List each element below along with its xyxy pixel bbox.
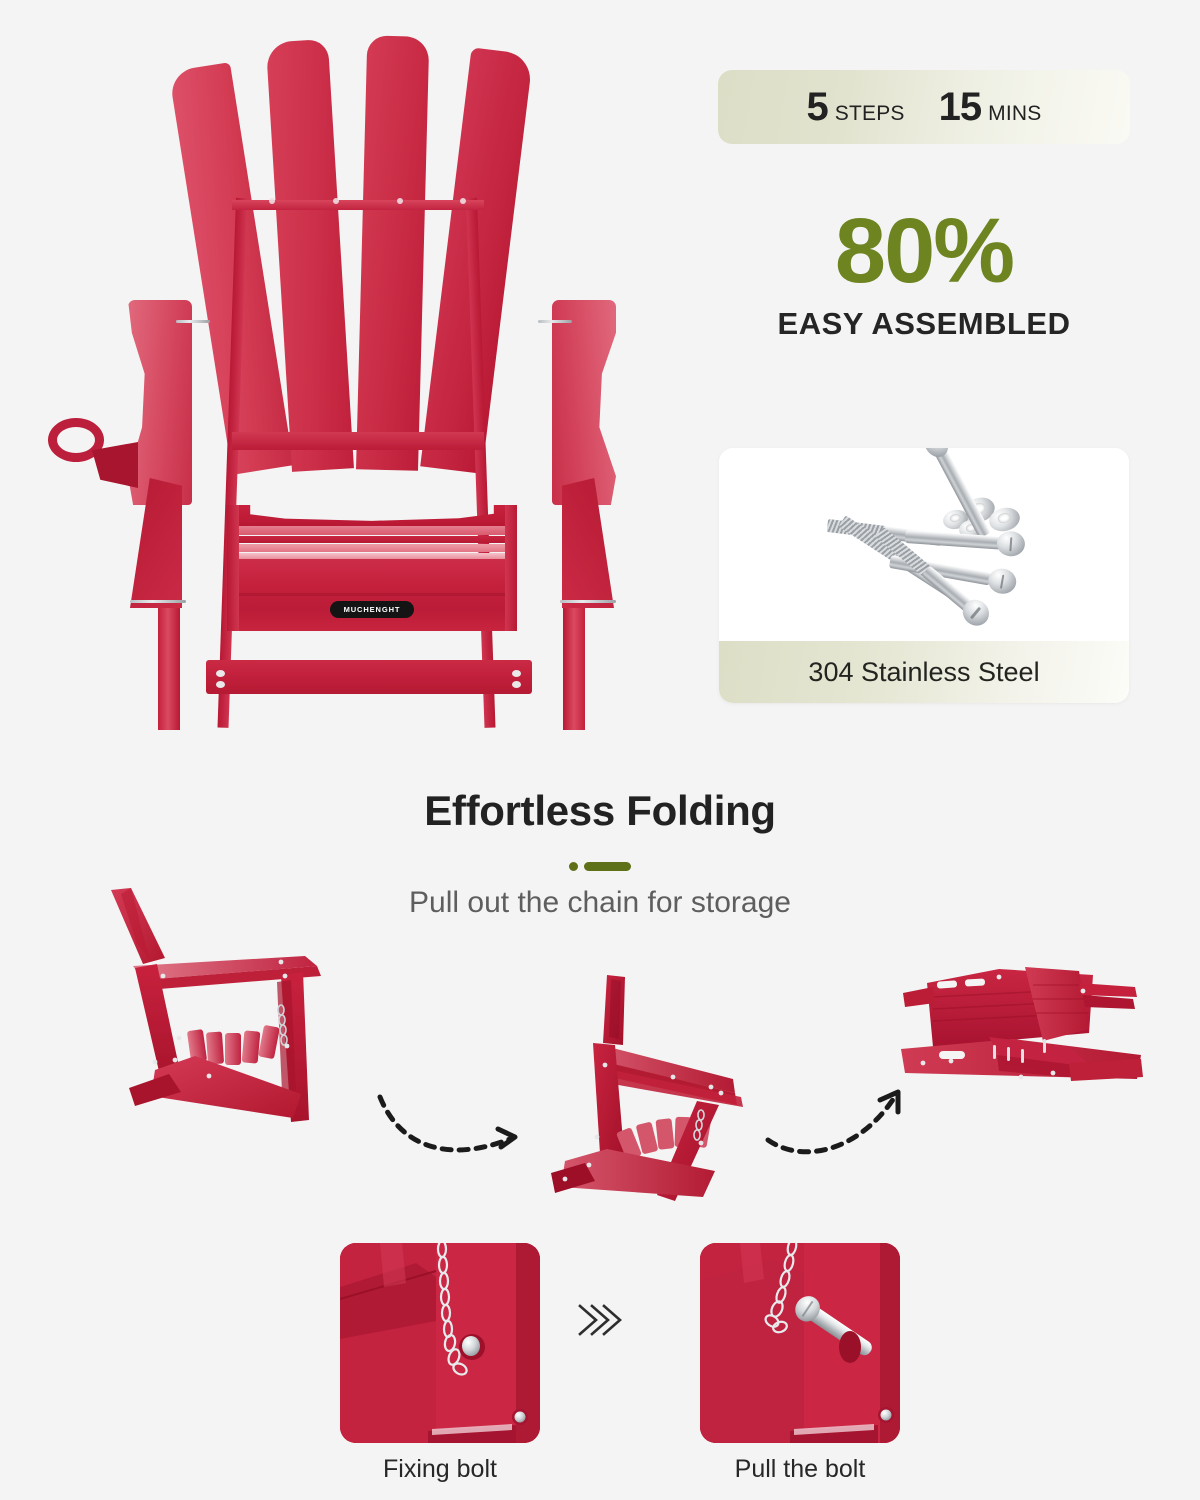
seat-side-post bbox=[227, 505, 239, 631]
backrest-cross-brace bbox=[232, 432, 484, 450]
steps-count: 5 STEPS bbox=[807, 85, 905, 130]
steps-unit: STEPS bbox=[835, 102, 905, 126]
pull-bolt-label: Pull the bolt bbox=[670, 1455, 930, 1484]
screw-pin bbox=[130, 600, 186, 603]
chair-upright-illustration bbox=[85, 880, 365, 1140]
backrest-slat bbox=[356, 35, 429, 470]
screw-hole bbox=[460, 198, 466, 204]
time-count: 15 MINS bbox=[939, 85, 1042, 130]
brand-label: MUCHENGHT bbox=[330, 601, 414, 618]
seat-assembly: MUCHENGHT bbox=[227, 505, 517, 640]
easy-assembly-claim: 80% EASY ASSEMBLED bbox=[718, 205, 1130, 342]
right-armrest bbox=[552, 300, 616, 505]
screw-hole bbox=[216, 670, 225, 677]
dashed-arrow-1 bbox=[370, 1085, 530, 1175]
infographic-page: 5 STEPS 15 MINS 80% EASY ASSEMBLED bbox=[0, 0, 1200, 1500]
screw-hole bbox=[269, 198, 275, 204]
chair-folded-flat-illustration bbox=[893, 955, 1143, 1125]
hardware-caption: 304 Stainless Steel bbox=[719, 641, 1129, 703]
screw-hole bbox=[216, 681, 225, 688]
pull-bolt-closeup bbox=[700, 1243, 900, 1443]
seat-top-slat bbox=[227, 505, 517, 527]
triple-chevron-right-icon bbox=[576, 1300, 624, 1345]
screw-hole bbox=[512, 681, 521, 688]
dashed-arrow-2 bbox=[762, 1078, 912, 1175]
screw-pin bbox=[176, 320, 210, 323]
folding-section-title: Effortless Folding bbox=[0, 787, 1200, 835]
screw-hole bbox=[333, 198, 339, 204]
divider-dot bbox=[569, 862, 578, 871]
hardware-photo bbox=[719, 448, 1129, 641]
minutes-unit: MINS bbox=[988, 102, 1041, 126]
fixing-bolt-label: Fixing bolt bbox=[310, 1455, 570, 1484]
hardware-card: 304 Stainless Steel bbox=[719, 448, 1129, 703]
exploded-chair-illustration: MUCHENGHT bbox=[0, 0, 700, 760]
seat-slat bbox=[231, 536, 513, 543]
brand-label-text: MUCHENGHT bbox=[344, 605, 401, 614]
fixing-bolt-closeup bbox=[340, 1243, 540, 1443]
panel-pull-bolt bbox=[700, 1243, 900, 1443]
steps-time-badge: 5 STEPS 15 MINS bbox=[718, 70, 1130, 144]
seat-side-post bbox=[505, 505, 517, 631]
percent-value: 80% bbox=[718, 205, 1130, 297]
screw-pin bbox=[538, 320, 572, 323]
bolt-icon bbox=[905, 530, 1024, 551]
panel-fixing-bolt bbox=[340, 1243, 540, 1443]
stage-chair-folded-flat bbox=[893, 955, 1143, 1125]
screw-hole bbox=[397, 198, 403, 204]
support-bar bbox=[206, 660, 532, 694]
section-divider bbox=[0, 862, 1200, 871]
screw-hole bbox=[512, 670, 521, 677]
divider-dash bbox=[584, 862, 631, 871]
screw-pin bbox=[560, 600, 616, 603]
percent-caption: EASY ASSEMBLED bbox=[718, 306, 1130, 342]
steps-number: 5 bbox=[807, 85, 828, 130]
seat-slat bbox=[231, 526, 513, 535]
stage-chair-upright bbox=[85, 880, 365, 1140]
seat-slat bbox=[231, 544, 513, 552]
minutes-number: 15 bbox=[939, 85, 982, 130]
seat-groove bbox=[227, 593, 517, 596]
